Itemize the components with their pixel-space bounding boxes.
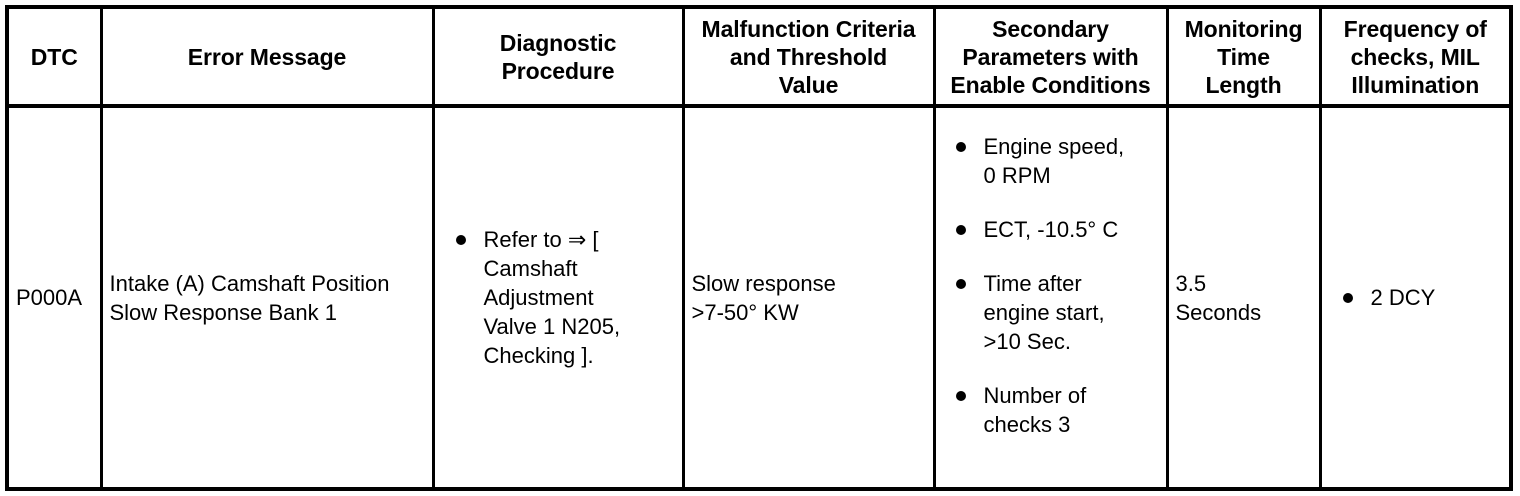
bullet-dot-icon (956, 142, 966, 152)
column-header-malfunction-criteria-line-1: Malfunction Criteria (689, 15, 929, 43)
secondary-parameter-1-line-2: 0 RPM (984, 161, 1159, 190)
column-header-monitoring-time-length-line-2: Time (1173, 43, 1315, 71)
column-header-malfunction-criteria-line-3: Value (689, 71, 929, 99)
diagnostic-procedure-line-2: Camshaft (484, 254, 675, 283)
cell-monitoring-time-length: 3.5 Seconds (1167, 106, 1320, 489)
secondary-parameter-3-line-3: >10 Sec. (984, 327, 1159, 356)
list-item: Engine speed, 0 RPM (943, 132, 1159, 190)
cell-diagnostic-procedure: Refer to ⇒ [ Camshaft Adjustment Valve 1… (433, 106, 683, 489)
secondary-parameter-3-line-1: Time after (984, 269, 1159, 298)
table-header: DTC Error Message Diagnostic Procedure M… (7, 7, 1511, 106)
monitoring-time-length-line-2: Seconds (1176, 298, 1312, 327)
bullet-dot-icon (456, 235, 466, 245)
cell-error-message: Intake (A) Camshaft Position Slow Respon… (101, 106, 433, 489)
column-header-frequency-of-checks-mil-line-1: Frequency of (1326, 15, 1506, 43)
error-message-value: Intake (A) Camshaft Position Slow Respon… (110, 269, 425, 327)
malfunction-criteria-line-2: >7-50° KW (692, 298, 926, 327)
secondary-parameter-3-line-2: engine start, (984, 298, 1159, 327)
dtc-summary-table: DTC Error Message Diagnostic Procedure M… (5, 5, 1513, 491)
cell-secondary-parameters: Engine speed, 0 RPM ECT, -10.5° C Time a… (934, 106, 1167, 489)
list-item: Refer to ⇒ [ Camshaft Adjustment Valve 1… (450, 225, 675, 370)
column-header-error-message-line-1: Error Message (107, 43, 428, 71)
table-row: P000A Intake (A) Camshaft Position Slow … (7, 106, 1511, 489)
column-header-monitoring-time-length-line-1: Monitoring (1173, 15, 1315, 43)
column-header-malfunction-criteria: Malfunction Criteria and Threshold Value (683, 7, 934, 106)
list-item: 2 DCY (1329, 283, 1503, 312)
column-header-secondary-parameters: Secondary Parameters with Enable Conditi… (934, 7, 1167, 106)
malfunction-criteria-line-1: Slow response (692, 269, 926, 298)
column-header-frequency-of-checks-mil: Frequency of checks, MIL Illumination (1320, 7, 1511, 106)
column-header-dtc: DTC (7, 7, 101, 106)
bullet-dot-icon (1343, 293, 1353, 303)
column-header-monitoring-time-length-line-3: Length (1173, 71, 1315, 99)
frequency-of-checks-line-1: 2 DCY (1371, 283, 1503, 312)
column-header-diagnostic-procedure-line-1: Diagnostic (439, 29, 678, 57)
column-header-monitoring-time-length: Monitoring Time Length (1167, 7, 1320, 106)
column-header-secondary-parameters-line-3: Enable Conditions (940, 71, 1162, 99)
cell-dtc: P000A (7, 106, 101, 489)
list-item: ECT, -10.5° C (943, 215, 1159, 244)
list-item: Time after engine start, >10 Sec. (943, 269, 1159, 356)
error-message-line-2: Slow Response Bank 1 (110, 298, 425, 327)
column-header-diagnostic-procedure: Diagnostic Procedure (433, 7, 683, 106)
diagnostic-procedure-line-5: Checking ]. (484, 341, 675, 370)
frequency-of-checks-list: 2 DCY (1329, 283, 1503, 312)
monitoring-time-length-value: 3.5 Seconds (1176, 269, 1312, 327)
dtc-code-value: P000A (16, 283, 93, 312)
document-page: DTC Error Message Diagnostic Procedure M… (0, 0, 1520, 496)
column-header-frequency-of-checks-mil-line-3: Illumination (1326, 71, 1506, 99)
malfunction-criteria-value: Slow response >7-50° KW (692, 269, 926, 327)
bullet-dot-icon (956, 279, 966, 289)
bullet-dot-icon (956, 225, 966, 235)
column-header-frequency-of-checks-mil-line-2: checks, MIL (1326, 43, 1506, 71)
column-header-secondary-parameters-line-2: Parameters with (940, 43, 1162, 71)
diagnostic-procedure-list: Refer to ⇒ [ Camshaft Adjustment Valve 1… (450, 225, 675, 370)
bullet-dot-icon (956, 391, 966, 401)
column-header-error-message: Error Message (101, 7, 433, 106)
secondary-parameter-4-line-2: checks 3 (984, 410, 1159, 439)
error-message-line-1: Intake (A) Camshaft Position (110, 269, 425, 298)
column-header-malfunction-criteria-line-2: and Threshold (689, 43, 929, 71)
secondary-parameter-4-line-1: Number of (984, 381, 1159, 410)
column-header-diagnostic-procedure-line-2: Procedure (439, 57, 678, 85)
column-header-dtc-line-1: DTC (13, 43, 96, 71)
diagnostic-procedure-line-4: Valve 1 N205, (484, 312, 675, 341)
secondary-parameter-2-line-1: ECT, -10.5° C (984, 215, 1159, 244)
table-header-row: DTC Error Message Diagnostic Procedure M… (7, 7, 1511, 106)
cell-malfunction-criteria: Slow response >7-50° KW (683, 106, 934, 489)
diagnostic-procedure-line-3: Adjustment (484, 283, 675, 312)
secondary-parameters-list: Engine speed, 0 RPM ECT, -10.5° C Time a… (943, 132, 1159, 439)
cell-frequency-of-checks-mil: 2 DCY (1320, 106, 1511, 489)
column-header-secondary-parameters-line-1: Secondary (940, 15, 1162, 43)
diagnostic-procedure-line-1: Refer to ⇒ [ (484, 225, 675, 254)
table-body: P000A Intake (A) Camshaft Position Slow … (7, 106, 1511, 489)
monitoring-time-length-line-1: 3.5 (1176, 269, 1312, 298)
dtc-code-line-1: P000A (16, 283, 93, 312)
secondary-parameter-1-line-1: Engine speed, (984, 132, 1159, 161)
list-item: Number of checks 3 (943, 381, 1159, 439)
